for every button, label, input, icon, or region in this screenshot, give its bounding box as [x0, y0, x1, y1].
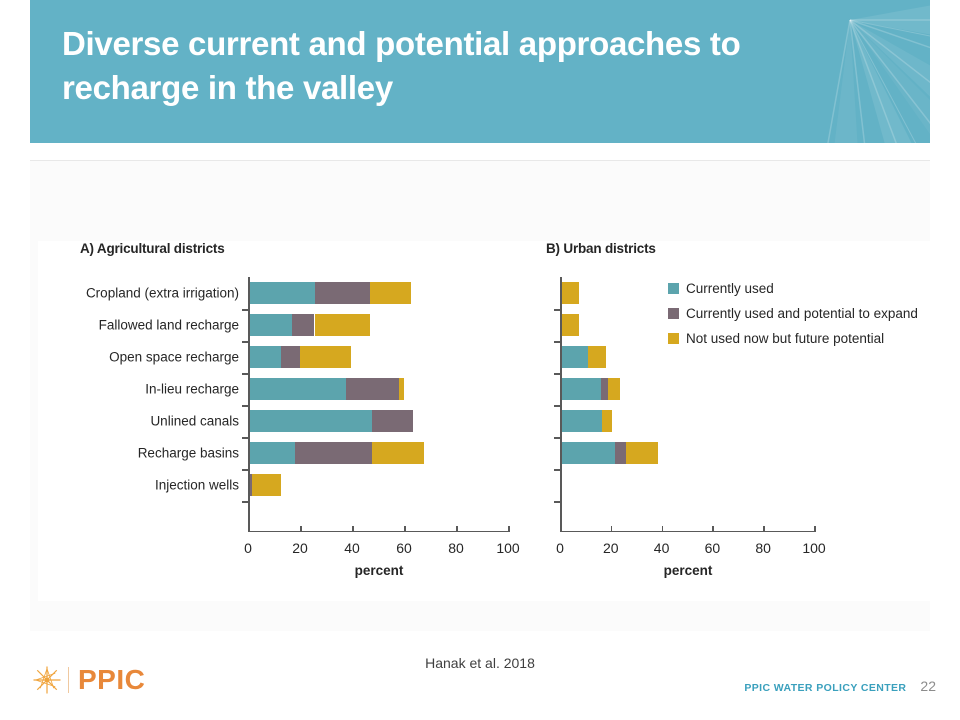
page-number: 22: [920, 678, 936, 694]
x-tick-label: 80: [755, 540, 771, 556]
figure-recharge-approaches: A) Agricultural districts percent 020406…: [38, 241, 930, 601]
x-tick-label: 40: [654, 540, 670, 556]
x-tick-label: 20: [603, 540, 619, 556]
x-tick: [352, 526, 354, 532]
x-tick: [560, 526, 562, 532]
bar-segment: [588, 346, 606, 368]
content-card: A) Agricultural districts percent 020406…: [30, 160, 930, 631]
x-tick-label: 40: [344, 540, 360, 556]
x-tick: [611, 526, 613, 532]
y-tick: [242, 501, 248, 503]
footer-right: PPIC WATER POLICY CENTER 22: [744, 678, 936, 694]
x-tick: [662, 526, 664, 532]
bar-segment: [281, 346, 301, 368]
panel-a-x-axis: [248, 531, 510, 533]
x-tick-label: 60: [396, 540, 412, 556]
legend-label: Currently used and potential to expand: [686, 306, 918, 321]
category-label: Recharge basins: [138, 446, 239, 461]
legend-swatch: [668, 333, 679, 344]
y-tick: [242, 437, 248, 439]
x-tick-label: 20: [292, 540, 308, 556]
panel-b-x-axis: [560, 531, 816, 533]
x-tick-label: 0: [244, 540, 252, 556]
y-tick: [242, 405, 248, 407]
panel-b-title: B) Urban districts: [546, 241, 656, 256]
bar-segment: [601, 378, 609, 400]
x-tick-label: 60: [705, 540, 721, 556]
x-tick-label: 100: [802, 540, 825, 556]
bar-segment: [250, 314, 293, 336]
bar-segment: [250, 378, 346, 400]
y-tick: [554, 405, 560, 407]
bar-segment: [562, 282, 580, 304]
x-tick: [763, 526, 765, 532]
y-tick: [554, 309, 560, 311]
y-tick: [554, 437, 560, 439]
bar-segment: [608, 378, 619, 400]
x-tick: [456, 526, 458, 532]
legend-swatch: [668, 283, 679, 294]
x-tick-label: 0: [556, 540, 564, 556]
bar-segment: [250, 346, 281, 368]
chart-legend: Currently usedCurrently used and potenti…: [668, 277, 918, 352]
panel-b-x-axis-title: percent: [664, 563, 713, 578]
bar-segment: [562, 410, 603, 432]
category-label: Unlined canals: [150, 414, 239, 429]
y-tick: [554, 341, 560, 343]
y-tick: [554, 373, 560, 375]
category-label: Open space recharge: [109, 350, 239, 365]
slide-title: Diverse current and potential approaches…: [62, 22, 862, 109]
legend-swatch: [668, 308, 679, 319]
starburst-logo-icon: [32, 665, 62, 695]
y-tick: [242, 341, 248, 343]
category-label: Cropland (extra irrigation): [86, 286, 239, 301]
y-tick: [242, 373, 248, 375]
x-tick: [248, 526, 250, 532]
bar-segment: [250, 442, 296, 464]
bar-segment: [626, 442, 658, 464]
panel-a-agricultural-districts: A) Agricultural districts percent 020406…: [38, 241, 508, 601]
bar-segment: [615, 442, 626, 464]
bar-segment: [315, 282, 371, 304]
bar-segment: [562, 442, 615, 464]
bar-segment: [292, 314, 314, 336]
bar-segment: [372, 410, 414, 432]
bar-segment: [315, 314, 371, 336]
bar-segment: [300, 346, 351, 368]
ppic-wordmark: PPIC: [78, 664, 145, 696]
panel-b-urban-districts: B) Urban districts percent 020406080100 …: [508, 241, 928, 601]
category-label: In-lieu recharge: [145, 382, 239, 397]
ppic-logo: PPIC: [32, 662, 145, 698]
category-label: Injection wells: [155, 478, 239, 493]
bar-segment: [295, 442, 372, 464]
title-banner: Diverse current and potential approaches…: [30, 0, 930, 143]
x-tick-label: 80: [448, 540, 464, 556]
bar-segment: [602, 410, 612, 432]
legend-item: Not used now but future potential: [668, 327, 918, 349]
category-label: Fallowed land recharge: [99, 318, 239, 333]
y-tick: [242, 309, 248, 311]
y-tick: [554, 469, 560, 471]
bar-segment: [562, 346, 589, 368]
legend-label: Currently used: [686, 281, 774, 296]
panel-a-x-axis-title: percent: [355, 563, 404, 578]
x-tick: [404, 526, 406, 532]
panel-a-title: A) Agricultural districts: [80, 241, 225, 256]
x-tick: [814, 526, 816, 532]
bar-segment: [562, 378, 601, 400]
bar-segment: [250, 410, 372, 432]
panel-a-plot-area: percent 020406080100Cropland (extra irri…: [248, 277, 510, 532]
x-tick: [300, 526, 302, 532]
bar-segment: [562, 314, 580, 336]
footer-center-name: PPIC WATER POLICY CENTER: [744, 682, 906, 694]
y-tick: [554, 501, 560, 503]
y-tick: [242, 469, 248, 471]
legend-item: Currently used and potential to expand: [668, 302, 918, 324]
bar-segment: [399, 378, 404, 400]
bar-segment: [252, 474, 281, 496]
legend-item: Currently used: [668, 277, 918, 299]
logo-divider: [68, 667, 69, 693]
bar-segment: [370, 282, 410, 304]
bar-segment: [346, 378, 399, 400]
bar-segment: [250, 282, 315, 304]
bar-segment: [372, 442, 424, 464]
x-tick: [712, 526, 714, 532]
legend-label: Not used now but future potential: [686, 331, 884, 346]
